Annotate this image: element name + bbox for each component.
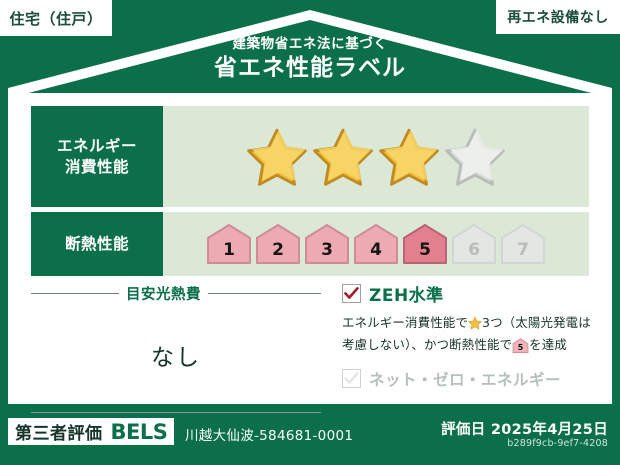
- title-subtitle: 建築物省エネ法に基づく: [0, 36, 620, 52]
- utility-cost-section: 目安光熱費 なし: [31, 283, 321, 413]
- zeh-standard-row[interactable]: ZEH水準: [342, 281, 592, 306]
- check-icon-disabled: [344, 372, 359, 385]
- bels-energy-performance-label: 住宅（住戸） 再エネ設備なし 建築物省エネ法に基づく 省エネ性能ラベル エネルギ…: [0, 0, 620, 465]
- utility-cost-heading: 目安光熱費: [31, 283, 321, 304]
- label-main-card: エネルギー 消費性能 断熱性能 1234567 目安光熱費 なし: [17, 93, 603, 404]
- net-zero-energy-row[interactable]: ネット・ゼロ・エネルギー: [342, 368, 592, 390]
- title-main: 省エネ性能ラベル: [0, 55, 620, 81]
- insulation-level-number: 7: [500, 240, 546, 260]
- zeh-standard-label: ZEH水準: [369, 281, 444, 306]
- evaluation-date-value: 2025年4月25日: [491, 422, 608, 438]
- document-uuid: b289f9cb-9ef7-4208: [507, 438, 608, 449]
- net-zero-energy-label: ネット・ゼロ・エネルギー: [369, 368, 561, 390]
- svg-text:5: 5: [518, 344, 524, 353]
- energy-performance-rating: [163, 106, 589, 207]
- check-icon: [344, 287, 359, 300]
- zeh-section: ZEH水準 エネルギー消費性能で3つ（太陽光発電は考慮しない）、かつ断熱性能で5…: [342, 281, 592, 390]
- insulation-level-number: 5: [402, 240, 448, 260]
- mini-star-icon: [468, 316, 482, 335]
- utility-cost-heading-text: 目安光熱費: [126, 283, 201, 304]
- insulation-level-scale: 1234567: [206, 223, 546, 265]
- insulation-level-number: 1: [206, 240, 252, 260]
- certificate-id: 川越大仙波-584681-0001: [185, 424, 353, 444]
- utility-heading-rule-left: [31, 293, 119, 294]
- third-party-evaluation-label: 第三者評価: [15, 419, 103, 444]
- mini-insulation-badge: 5: [512, 338, 529, 358]
- zeh-standard-checkbox[interactable]: [342, 284, 361, 303]
- insulation-level-number: 6: [451, 240, 497, 260]
- insulation-level-achieved: 5: [402, 223, 448, 265]
- badge-renewable-equipment: 再エネ設備なし: [496, 0, 620, 34]
- insulation-level-active: 1: [206, 223, 252, 265]
- insulation-level-number: 4: [353, 240, 399, 260]
- net-zero-energy-checkbox[interactable]: [342, 369, 361, 388]
- energy-performance-row: エネルギー 消費性能: [31, 106, 589, 207]
- zeh-desc-part1: エネルギー消費性能で: [342, 315, 468, 330]
- star-filled-icon: [378, 126, 440, 188]
- star-filled-icon: [312, 126, 374, 188]
- insulation-level-active: 3: [304, 223, 350, 265]
- zeh-standard-description: エネルギー消費性能で3つ（太陽光発電は考慮しない）、かつ断熱性能で5を達成: [342, 313, 592, 359]
- badge-renewable-equipment-label: 再エネ設備なし: [507, 7, 609, 27]
- star-filled-icon: [246, 126, 308, 188]
- insulation-level-inactive: 6: [451, 223, 497, 265]
- energy-performance-label: エネルギー 消費性能: [31, 106, 163, 207]
- insulation-performance-label-text: 断熱性能: [65, 234, 129, 255]
- star-rating: [246, 126, 506, 188]
- badge-building-type: 住宅（住戸）: [0, 0, 112, 36]
- label-footer: 第三者評価 BELS 川越大仙波-584681-0001 評価日 2025年4月…: [0, 410, 620, 465]
- evaluation-date-label: 評価日: [441, 422, 485, 438]
- insulation-performance-rating: 1234567: [163, 212, 589, 276]
- utility-heading-rule-right: [208, 293, 321, 294]
- insulation-level-number: 3: [304, 240, 350, 260]
- badge-building-type-label: 住宅（住戸）: [9, 8, 102, 29]
- bels-logo-text: BELS: [111, 420, 168, 444]
- insulation-performance-label: 断熱性能: [31, 212, 163, 276]
- evaluation-date: 評価日 2025年4月25日: [441, 418, 608, 439]
- insulation-level-number: 2: [255, 240, 301, 260]
- zeh-desc-part2: 3つ（太陽光発電: [482, 315, 578, 330]
- energy-performance-label-line2: 消費性能: [65, 157, 129, 178]
- star-empty-icon: [444, 126, 506, 188]
- bels-plate: 第三者評価 BELS: [8, 418, 174, 445]
- insulation-level-active: 4: [353, 223, 399, 265]
- insulation-level-inactive: 7: [500, 223, 546, 265]
- utility-cost-value: なし: [31, 338, 321, 372]
- zeh-desc-part4: を達成: [529, 337, 567, 352]
- insulation-level-active: 2: [255, 223, 301, 265]
- label-title-block: 建築物省エネ法に基づく 省エネ性能ラベル: [0, 36, 620, 82]
- insulation-performance-row: 断熱性能 1234567: [31, 212, 589, 276]
- energy-performance-label-line1: エネルギー: [57, 136, 137, 157]
